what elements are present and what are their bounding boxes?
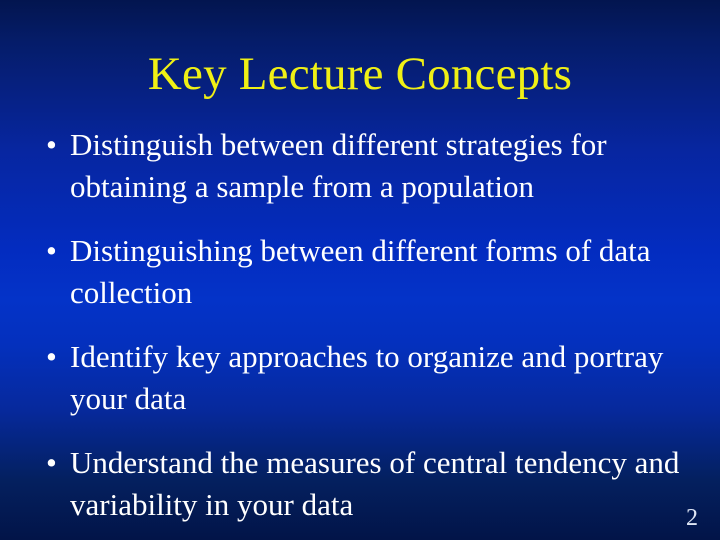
list-item-label: Understand the measures of central tende… [70,442,688,526]
list-item: • Identify key approaches to organize an… [40,336,688,420]
page-title: Key Lecture Concepts [148,47,572,101]
slide-title-container: Key Lecture Concepts [0,16,720,133]
list-item-label: Distinguish between different strategies… [70,124,688,208]
list-item: • Distinguishing between different forms… [40,230,688,314]
bullet-point-icon: • [46,336,66,378]
list-item-label: Distinguishing between different forms o… [70,230,688,314]
bullet-point-icon: • [46,442,66,484]
list-item: • Distinguish between different strategi… [40,124,688,208]
slide-number: 2 [686,504,698,532]
bullet-point-icon: • [46,230,66,272]
list-item: • Understand the measures of central ten… [40,442,688,526]
bullet-point-icon: • [46,124,66,166]
list-item-label: Identify key approaches to organize and … [70,336,688,420]
bullet-list: • Distinguish between different strategi… [40,124,688,526]
presentation-slide: Key Lecture Concepts • Distinguish betwe… [0,0,720,540]
